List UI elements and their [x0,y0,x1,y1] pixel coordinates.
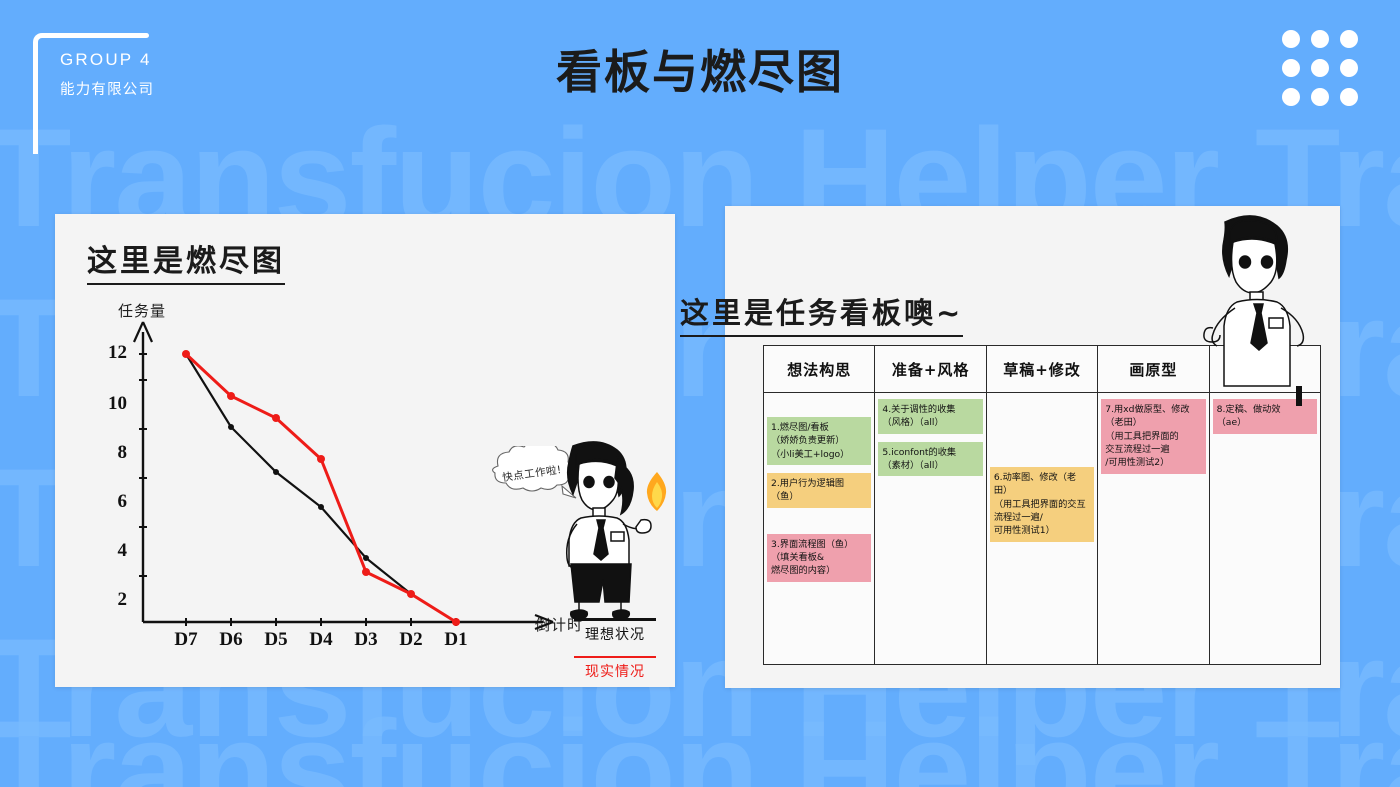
dot-icon [1340,88,1358,106]
y-tick-label: 10 [101,393,127,415]
legend-swatch-actual [574,656,656,659]
y-tick-label: 8 [101,442,127,464]
kanban-column-body: 6.动率图、修改（老田） （用工具把界面的交互 流程过一遍/ 可用性测试1） [987,393,1097,664]
dot-icon [1311,88,1329,106]
kanban-card[interactable]: 1.燃尽图/看板 （娇娇负责更新） （小li美工+logo） [767,417,871,465]
x-tick-label: D2 [389,629,433,651]
kanban-column-header: 想法构思 [764,346,874,393]
kanban-card[interactable]: 6.动率图、修改（老田） （用工具把界面的交互 流程过一遍/ 可用性测试1） [990,467,1094,542]
dot-icon [1340,30,1358,48]
dot-icon [1282,30,1300,48]
character-illustration [1195,210,1323,415]
kanban-column-prototype[interactable]: 画原型 7.用xd做原型、修改 （老田） （用工具把界面的 交互流程过一遍 /可… [1098,346,1209,664]
kanban-column-ideation[interactable]: 想法构思 1.燃尽图/看板 （娇娇负责更新） （小li美工+logo） 2.用户… [764,346,875,664]
kanban-column-header: 准备+风格 [875,346,985,393]
burndown-chart-panel: 这里是燃尽图 任务量 倒计时 快点工作啦! [55,214,675,687]
x-tick-label: D6 [209,629,253,651]
kanban-column-preparation[interactable]: 准备+风格 4.关于调性的收集 （风格）（all） 5.iconfont的收集 … [875,346,986,664]
kanban-column-body: 8.定稿、做动效 （ae） [1210,393,1320,664]
kanban-column-body: 4.关于调性的收集 （风格）（all） 5.iconfont的收集 （素材）（a… [875,393,985,664]
dot-icon [1282,88,1300,106]
legend-label-actual: 现实情况 [574,661,656,681]
kanban-card[interactable]: 2.用户行为逻辑图 （鱼） [767,473,871,508]
kanban-title: 这里是任务看板噢~ [680,290,963,337]
x-tick-label: D3 [344,629,388,651]
kanban-column-body: 7.用xd做原型、修改 （老田） （用工具把界面的 交互流程过一遍 /可用性测试… [1098,393,1208,664]
kanban-column-draft[interactable]: 草稿+修改 6.动率图、修改（老田） （用工具把界面的交互 流程过一遍/ 可用性… [987,346,1098,664]
kanban-column-header: 草稿+修改 [987,346,1097,393]
dot-icon [1311,30,1329,48]
dot-grid-decoration [1282,30,1358,106]
kanban-column-body: 1.燃尽图/看板 （娇娇负责更新） （小li美工+logo） 2.用户行为逻辑图… [764,393,874,664]
kanban-card[interactable]: 7.用xd做原型、修改 （老田） （用工具把界面的 交互流程过一遍 /可用性测试… [1101,399,1205,474]
dot-icon [1282,59,1300,77]
kanban-column-header: 画原型 [1098,346,1208,393]
kanban-card[interactable]: 5.iconfont的收集 （素材）（all） [878,442,982,477]
x-tick-label: D5 [254,629,298,651]
page-title: 看板与燃尽图 [0,36,1400,102]
y-tick-label: 12 [101,342,127,364]
x-tick-label: D4 [299,629,343,651]
y-tick-label: 2 [101,589,127,611]
dot-icon [1340,59,1358,77]
watermark-row: Transfucion Helper Transfucion Helper [0,700,1400,787]
kanban-card[interactable]: 3.界面流程图（鱼） （填关看板& 燃尽图的内容） [767,534,871,582]
kanban-card[interactable]: 4.关于调性的收集 （风格）（all） [878,399,982,434]
x-tick-label: D7 [164,629,208,651]
dot-icon [1311,59,1329,77]
x-tick-label: D1 [434,629,478,651]
legend-label-ideal: 理想状况 [574,624,656,644]
y-tick-label: 4 [101,540,127,562]
chart-legend: 理想状况 现实情况 [574,618,656,681]
y-tick-label: 6 [101,491,127,513]
